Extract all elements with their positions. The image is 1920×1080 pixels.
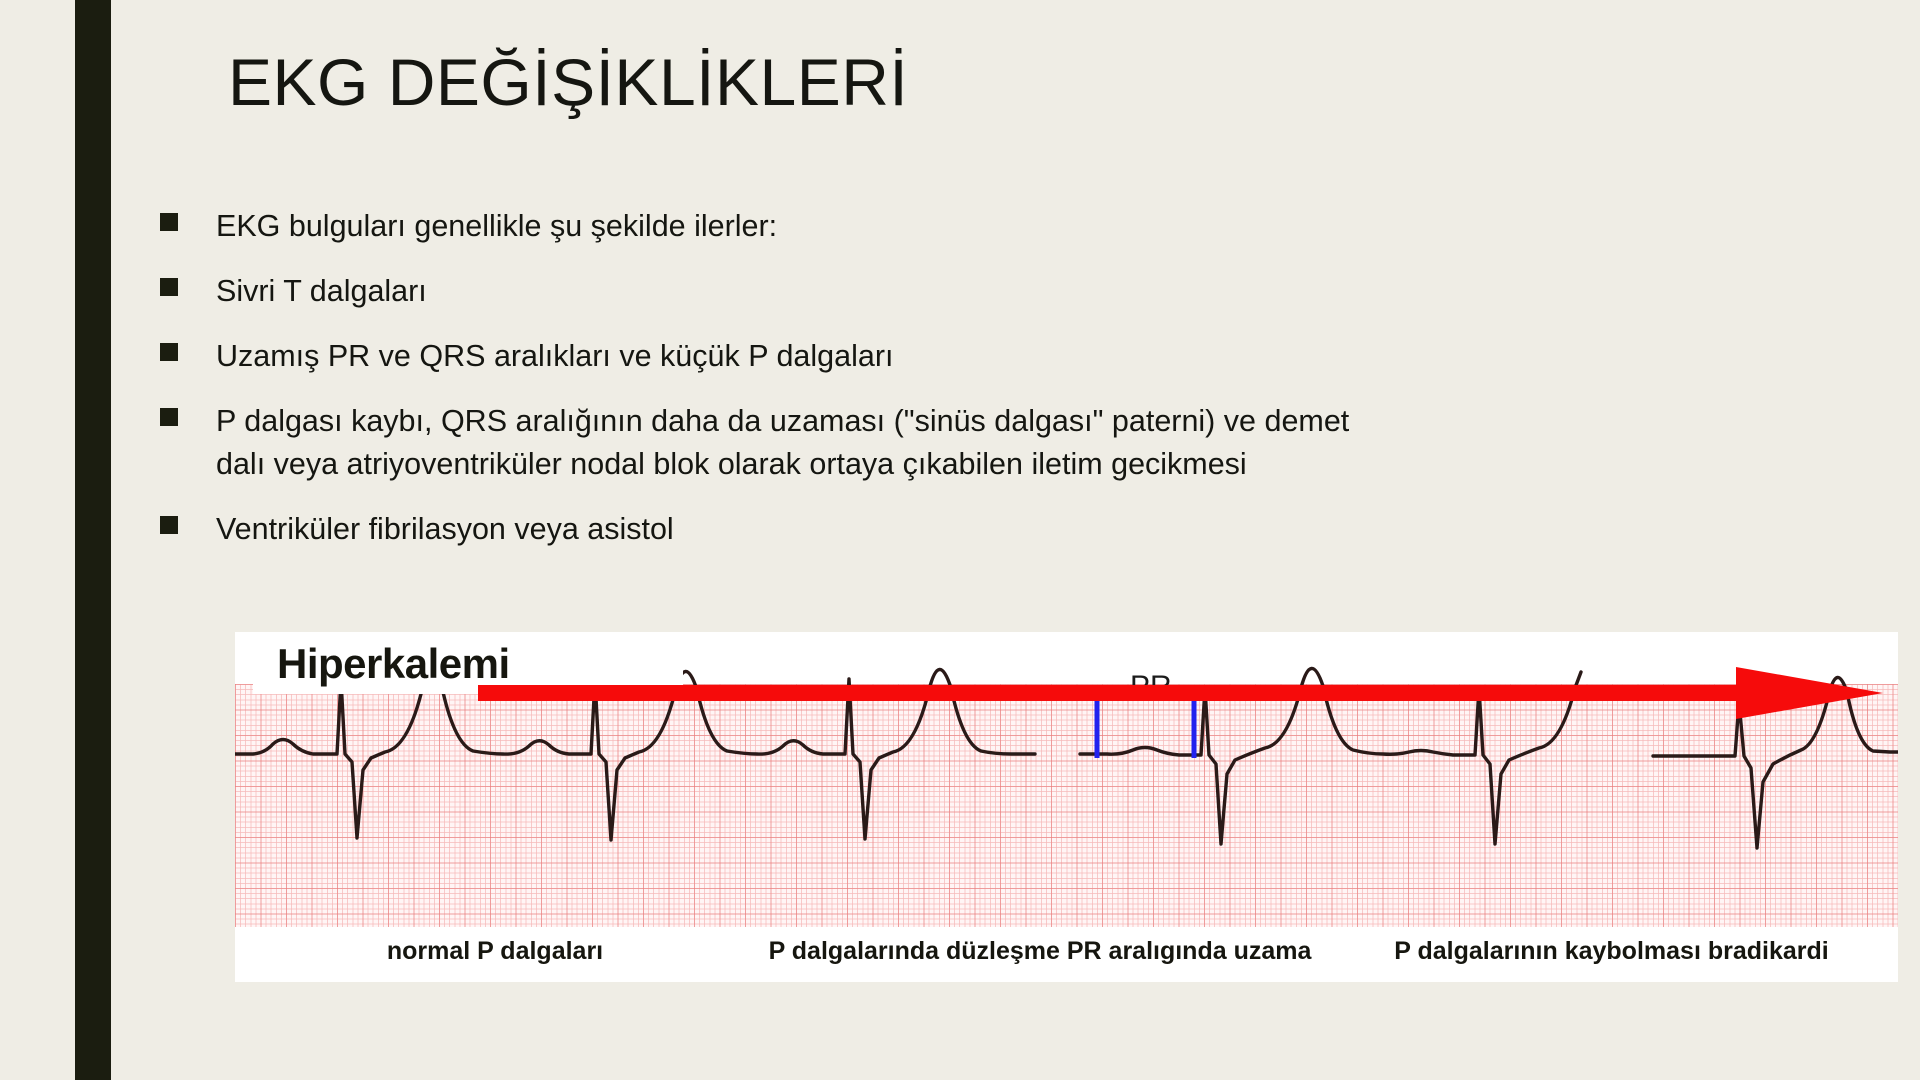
ecg-caption-normal-p: normal P dalgaları — [235, 933, 755, 969]
ecg-caption-flattened-p: P dalgalarında düzleşme PR aralıgında uz… — [755, 933, 1325, 969]
page-title: EKG DEĞİŞİKLİKLERİ — [228, 42, 908, 122]
list-item-text: P dalgası kaybı, QRS aralığının daha da … — [216, 400, 1720, 486]
list-item-text: Uzamış PR ve QRS aralıkları ve küçük P d… — [216, 335, 1720, 378]
bullet-square-icon — [160, 278, 178, 296]
list-item-line-1: Uzamış PR ve QRS aralıkları ve küçük P d… — [216, 339, 893, 373]
bullet-list: EKG bulguları genellikle şu şekilde iler… — [160, 205, 1720, 573]
bullet-square-icon — [160, 343, 178, 361]
list-item-line-1: P dalgası kaybı, QRS aralığının daha da … — [216, 404, 1349, 438]
list-item: Uzamış PR ve QRS aralıkları ve küçük P d… — [160, 335, 1720, 378]
list-item: P dalgası kaybı, QRS aralığının daha da … — [160, 400, 1720, 486]
list-item-text: Sivri T dalgaları — [216, 270, 1720, 313]
list-item-line-1: Ventriküler fibrilasyon veya asistol — [216, 512, 674, 546]
progression-arrow-icon — [478, 667, 1883, 719]
ecg-progression-figure: Hiperkalemi PR normal P dalgaları P dalg… — [235, 632, 1898, 982]
list-item: Sivri T dalgaları — [160, 270, 1720, 313]
ecg-caption-absent-p: P dalgalarının kaybolması bradikardi — [1325, 933, 1898, 969]
list-item-line-2: dalı veya atriyoventriküler nodal blok o… — [216, 443, 1720, 486]
list-item-line-1: EKG bulguları genellikle şu şekilde iler… — [216, 209, 777, 243]
bullet-square-icon — [160, 408, 178, 426]
list-item-text: Ventriküler fibrilasyon veya asistol — [216, 508, 1720, 551]
list-item-line-1: Sivri T dalgaları — [216, 274, 427, 308]
list-item: Ventriküler fibrilasyon veya asistol — [160, 508, 1720, 551]
left-accent-bar — [75, 0, 111, 1080]
bullet-square-icon — [160, 213, 178, 231]
ecg-caption-strip: normal P dalgaları P dalgalarında düzleş… — [235, 927, 1898, 982]
list-item-text: EKG bulguları genellikle şu şekilde iler… — [216, 205, 1720, 248]
bullet-square-icon — [160, 516, 178, 534]
slide-canvas: EKG DEĞİŞİKLİKLERİ EKG bulguları genelli… — [0, 0, 1920, 1080]
list-item: EKG bulguları genellikle şu şekilde iler… — [160, 205, 1720, 248]
